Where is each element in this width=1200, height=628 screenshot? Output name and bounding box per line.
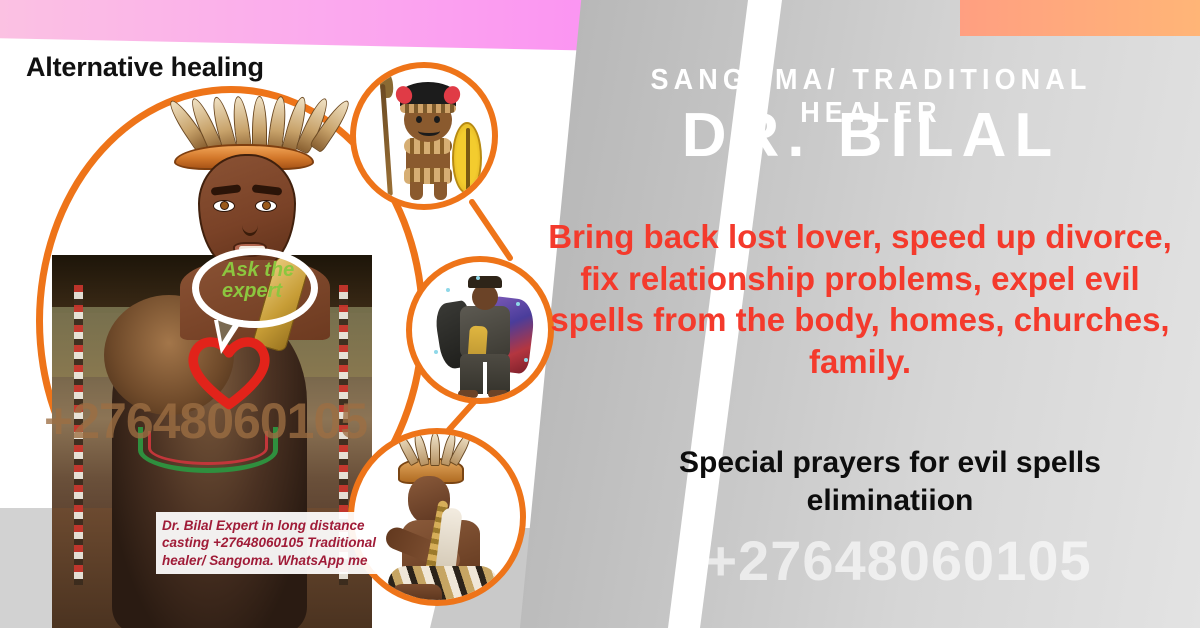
top-pink-band [0, 0, 610, 51]
speech-bubble: Ask the expert [192, 248, 318, 328]
services-text: Bring back lost lover, speed up divorce,… [540, 216, 1180, 382]
top-orange-band [960, 0, 1200, 36]
prayers-text: Special prayers for evil spells eliminat… [600, 444, 1180, 521]
page-title: Alternative healing [26, 52, 264, 83]
connector-line-top [468, 198, 514, 262]
flyer-canvas: Alternative healing [0, 0, 1200, 628]
healer-name: DR. BILAL [565, 100, 1177, 171]
circle-robed-healer [406, 256, 554, 404]
phone-watermark: +27648060105 [600, 528, 1196, 593]
shield-icon [452, 122, 482, 194]
photo-caption: Dr. Bilal Expert in long distance castin… [156, 512, 382, 574]
circle-zulu-warrior [350, 62, 498, 210]
speech-bubble-label: Ask the expert [222, 260, 318, 302]
